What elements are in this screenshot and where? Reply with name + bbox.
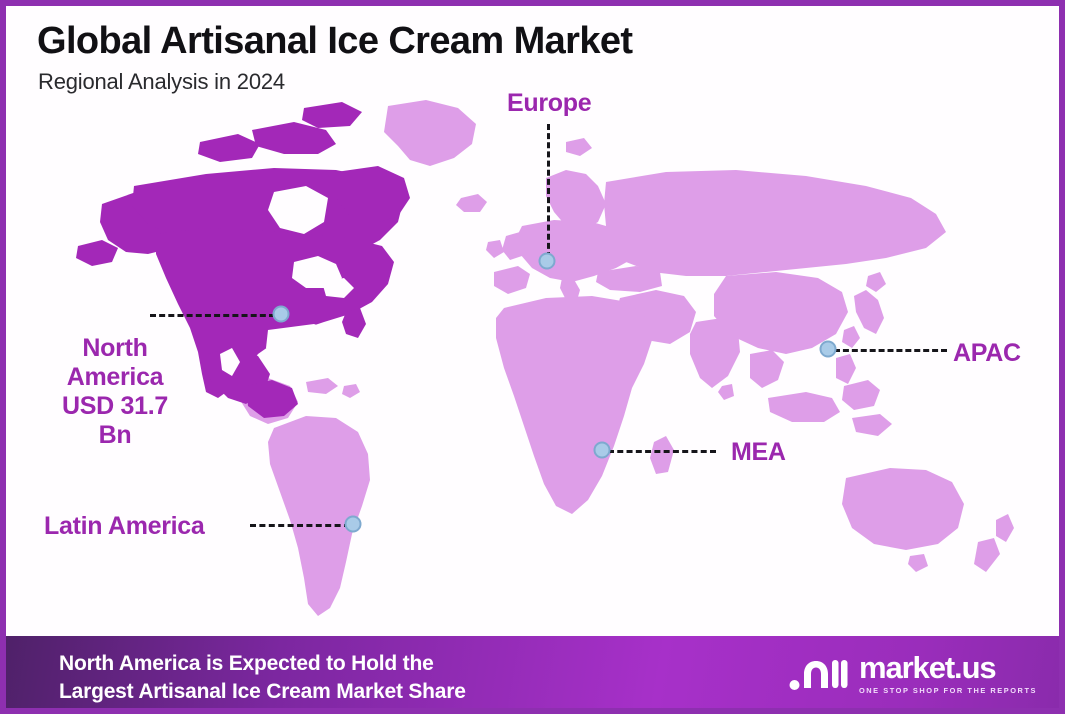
region-label-europe: Europe: [507, 89, 591, 118]
region-name-latin-america: Latin America: [44, 512, 205, 540]
region-label-mea: MEA: [731, 438, 786, 467]
region-name-mea: MEA: [731, 438, 786, 466]
region-value-north-america: USD 31.7 Bn: [62, 392, 168, 449]
region-name-apac: APAC: [953, 339, 1021, 367]
marker-latin-america[interactable]: [345, 516, 362, 533]
marker-north-america[interactable]: [273, 306, 290, 323]
region-label-north-america: North America USD 31.7 Bn: [44, 334, 186, 450]
footer-headline: North America is Expected to Hold the La…: [59, 650, 466, 707]
page-title: Global Artisanal Ice Cream Market: [37, 20, 632, 63]
connector-mea: [608, 450, 716, 453]
market-us-logo[interactable]: market.us ONE STOP SHOP FOR THE REPORTS: [788, 652, 1037, 695]
marker-apac[interactable]: [820, 341, 837, 358]
marker-mea[interactable]: [594, 442, 611, 459]
logo-tagline: ONE STOP SHOP FOR THE REPORTS: [859, 686, 1037, 695]
connector-apac: [834, 349, 947, 352]
connector-north-america: [150, 314, 275, 317]
region-name-europe: Europe: [507, 89, 591, 117]
marker-europe[interactable]: [539, 253, 556, 270]
content-area: Global Artisanal Ice Cream Market Region…: [6, 6, 1059, 708]
region-label-latin-america: Latin America: [44, 512, 205, 541]
infographic-canvas: Global Artisanal Ice Cream Market Region…: [0, 0, 1065, 714]
logo-mark-icon: [788, 654, 848, 694]
footer-banner: North America is Expected to Hold the La…: [6, 636, 1059, 708]
connector-latin-america: [250, 524, 350, 527]
logo-wordmark: market.us: [859, 652, 996, 683]
logo-text-block: market.us ONE STOP SHOP FOR THE REPORTS: [859, 652, 1037, 695]
region-name-north-america: North America: [67, 334, 164, 391]
connector-europe: [547, 124, 550, 258]
region-label-apac: APAC: [953, 339, 1021, 368]
footer-headline-line1: North America is Expected to Hold the: [59, 650, 466, 678]
footer-headline-line2: Largest Artisanal Ice Cream Market Share: [59, 678, 466, 706]
